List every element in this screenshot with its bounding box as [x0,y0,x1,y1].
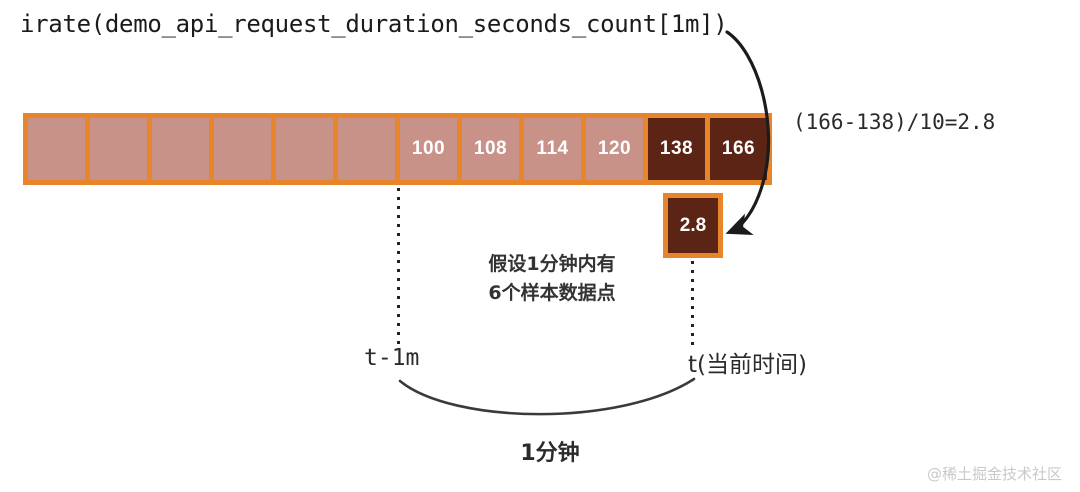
sample-cell [214,118,271,180]
sample-cell: 138 [648,118,705,180]
sample-cell [152,118,209,180]
guide-line-start [397,188,400,346]
note-line-2: 6个样本数据点 [452,279,652,308]
sample-cell [338,118,395,180]
axis-label-end: t(当前时间) [688,345,807,379]
result-cell-container: 2.8 [663,193,723,258]
sample-count-note: 假设1分钟内有 6个样本数据点 [452,250,652,309]
sample-cell [90,118,147,180]
sample-cell: 108 [462,118,519,180]
sample-cell: 100 [400,118,457,180]
sample-cell [28,118,85,180]
sample-cell: 166 [710,118,767,180]
arrow-overlay [0,0,1080,492]
guide-line-end [691,261,694,346]
diagram-canvas: irate(demo_api_request_duration_seconds_… [0,0,1080,492]
sample-cell: 114 [524,118,581,180]
sample-cell [276,118,333,180]
sample-cell: 120 [586,118,643,180]
watermark: @稀土掘金技术社区 [927,463,1062,484]
duration-span-curve [400,379,694,414]
sample-grid: 100 108 114 120 138 166 [23,113,772,185]
note-line-1: 假设1分钟内有 [452,250,652,279]
axis-label-start: t-1m [364,345,419,371]
irate-result-cell: 2.8 [668,198,718,253]
promql-expression-title: irate(demo_api_request_duration_seconds_… [20,10,727,38]
formula-annotation: (166-138)/10=2.8 [793,110,995,134]
duration-label: 1分钟 [450,435,650,467]
